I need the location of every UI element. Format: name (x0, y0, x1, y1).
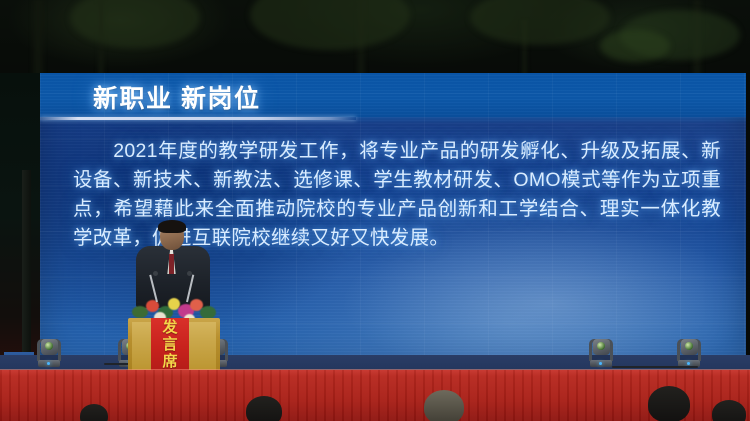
podium-banner-char: 言 (151, 336, 189, 353)
audience-head (424, 390, 464, 421)
podium-banner: 发 言 席 (151, 318, 189, 376)
speaker-at-podium: 发 言 席 (112, 222, 242, 374)
stage-photo: 新职业 新岗位 2021年度的教学研发工作，将专业产品的研发孵化、升级及拓展、新… (0, 0, 750, 421)
truss-pole (22, 170, 31, 370)
audience-head (712, 400, 746, 421)
stage-front-skirt (0, 370, 750, 421)
podium-banner-char: 发 (151, 319, 189, 336)
microphone-head (153, 271, 158, 276)
stage-cable (612, 366, 698, 368)
audience-head (80, 404, 108, 421)
moving-head-light (36, 333, 62, 367)
slide-title-divider (40, 117, 356, 120)
moving-head-light (676, 333, 702, 367)
speaker-hair (158, 220, 186, 233)
slide-title: 新职业 新岗位 (93, 79, 260, 115)
right-stage-edge (746, 73, 750, 370)
moving-head-light (588, 333, 614, 367)
speaker-tie (169, 254, 174, 274)
audience-head (246, 396, 282, 421)
audience-head (648, 386, 690, 421)
podium-banner-char: 席 (151, 353, 189, 370)
microphone-head (187, 271, 192, 276)
